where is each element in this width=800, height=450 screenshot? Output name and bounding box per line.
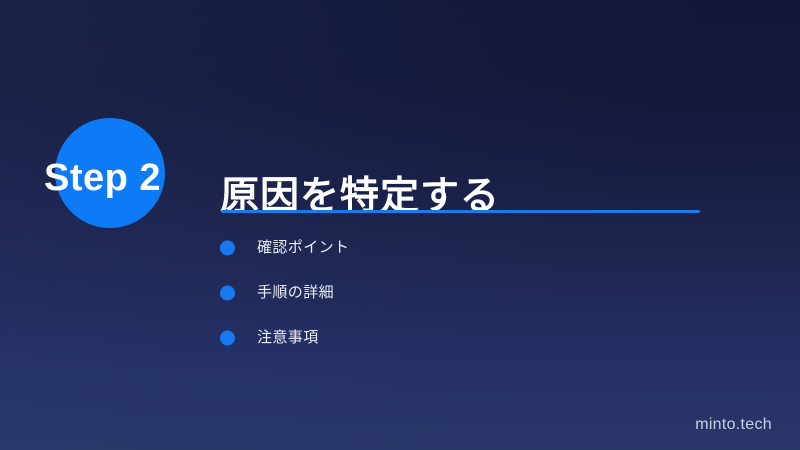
list-item: 手順の詳細	[220, 281, 349, 304]
slide-title: 原因を特定する	[220, 173, 500, 221]
list-item-label: 手順の詳細	[257, 281, 334, 304]
bullet-dot-icon	[220, 240, 235, 255]
presentation-slide: Step 2 原因を特定する 確認ポイント 手順の詳細 注意事項 minto.t…	[0, 0, 800, 450]
list-item: 注意事項	[220, 326, 349, 349]
list-item: 確認ポイント	[220, 236, 349, 259]
step-badge-label: Step 2	[44, 158, 209, 200]
footer-watermark: minto.tech	[695, 416, 772, 434]
bullet-dot-icon	[220, 330, 235, 345]
list-item-label: 確認ポイント	[257, 236, 349, 259]
bullet-dot-icon	[220, 285, 235, 300]
list-item-label: 注意事項	[257, 326, 319, 349]
title-divider	[221, 210, 700, 213]
bullet-list: 確認ポイント 手順の詳細 注意事項	[220, 236, 349, 349]
slide-content: Step 2 原因を特定する 確認ポイント 手順の詳細 注意事項 minto.t…	[0, 0, 800, 450]
